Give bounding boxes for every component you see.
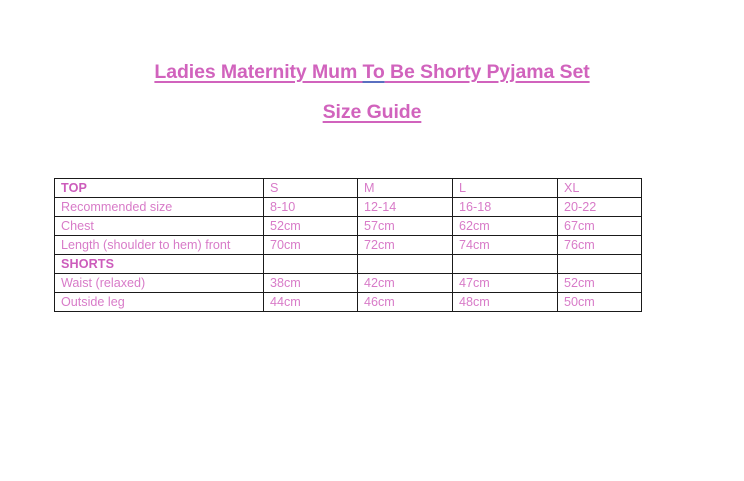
cell-shorts-l-empty <box>453 255 558 274</box>
cell-shorts-s-empty <box>264 255 358 274</box>
cell-outside-leg-s: 44cm <box>264 293 358 312</box>
cell-waist-s: 38cm <box>264 274 358 293</box>
table-row: Recommended size 8-10 12-14 16-18 20-22 <box>55 198 642 217</box>
column-header-s: S <box>264 179 358 198</box>
cell-chest-l: 62cm <box>453 217 558 236</box>
cell-length-l: 74cm <box>453 236 558 255</box>
cell-recommended-size-m: 12-14 <box>358 198 453 217</box>
table-row: Chest 52cm 57cm 62cm 67cm <box>55 217 642 236</box>
cell-shorts-m-empty <box>358 255 453 274</box>
cell-shorts-xl-empty <box>558 255 642 274</box>
title-segment-after-link: Be Shorty Pyjama Set <box>385 61 590 83</box>
cell-chest-xl: 67cm <box>558 217 642 236</box>
cell-waist-m: 42cm <box>358 274 453 293</box>
cell-chest-s: 52cm <box>264 217 358 236</box>
title-line-2: Size Guide <box>0 92 744 132</box>
title-line-1: Ladies Maternity Mum To Be Shorty Pyjama… <box>0 52 744 92</box>
page-title: Ladies Maternity Mum To Be Shorty Pyjama… <box>0 52 744 132</box>
table-row: Length (shoulder to hem) front 70cm 72cm… <box>55 236 642 255</box>
column-header-xl: XL <box>558 179 642 198</box>
title-subtitle-text: Size Guide <box>323 101 422 123</box>
row-header-shorts: SHORTS <box>55 255 264 274</box>
column-header-l: L <box>453 179 558 198</box>
cell-outside-leg-m: 46cm <box>358 293 453 312</box>
cell-length-xl: 76cm <box>558 236 642 255</box>
size-guide-table: TOP S M L XL Recommended size 8-10 12-14… <box>54 178 642 312</box>
cell-outside-leg-xl: 50cm <box>558 293 642 312</box>
table-row: SHORTS <box>55 255 642 274</box>
cell-recommended-size-l: 16-18 <box>453 198 558 217</box>
row-label-chest: Chest <box>55 217 264 236</box>
row-header-top: TOP <box>55 179 264 198</box>
title-segment-before-link: Ladies Maternity Mum <box>154 61 362 83</box>
cell-recommended-size-s: 8-10 <box>264 198 358 217</box>
cell-recommended-size-xl: 20-22 <box>558 198 642 217</box>
table-row: Waist (relaxed) 38cm 42cm 47cm 52cm <box>55 274 642 293</box>
cell-waist-l: 47cm <box>453 274 558 293</box>
title-link-to[interactable]: To <box>363 61 385 83</box>
row-label-outside-leg: Outside leg <box>55 293 264 312</box>
row-label-waist: Waist (relaxed) <box>55 274 264 293</box>
table-row: Outside leg 44cm 46cm 48cm 50cm <box>55 293 642 312</box>
cell-chest-m: 57cm <box>358 217 453 236</box>
cell-outside-leg-l: 48cm <box>453 293 558 312</box>
row-label-recommended-size: Recommended size <box>55 198 264 217</box>
cell-length-s: 70cm <box>264 236 358 255</box>
cell-length-m: 72cm <box>358 236 453 255</box>
column-header-m: M <box>358 179 453 198</box>
row-label-length: Length (shoulder to hem) front <box>55 236 264 255</box>
size-guide-page: Ladies Maternity Mum To Be Shorty Pyjama… <box>0 0 744 481</box>
cell-waist-xl: 52cm <box>558 274 642 293</box>
table-row: TOP S M L XL <box>55 179 642 198</box>
